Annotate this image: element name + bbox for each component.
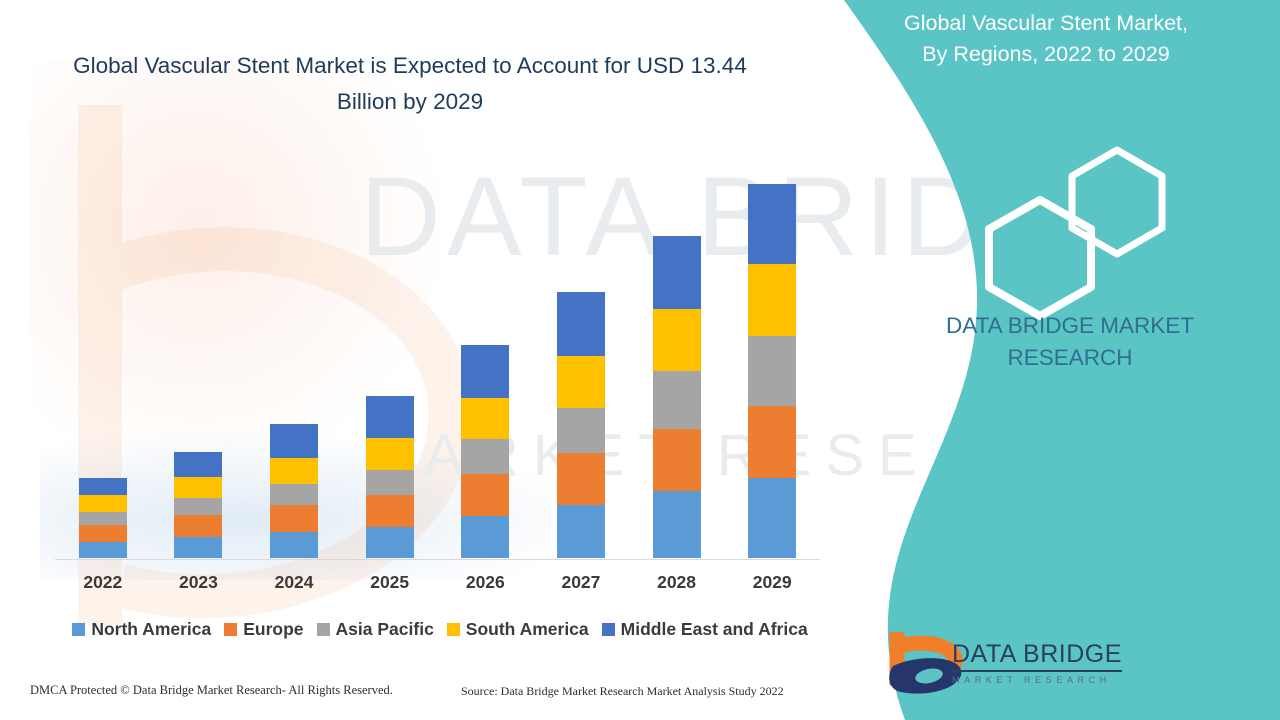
bar-segment: [270, 532, 318, 558]
bar-segment: [461, 439, 509, 474]
company-logo-text: DATA BRIDGE MARKET RESEARCH: [952, 640, 1152, 685]
legend-swatch-icon: [602, 623, 615, 636]
bar-segment: [653, 309, 701, 371]
infographic-canvas: DATA BRIDGE MARKET RESEARCH Global Vascu…: [0, 0, 1280, 720]
logo-name-primary: DATA BRIDGE: [952, 640, 1122, 672]
bar-segment: [653, 429, 701, 491]
panel-title-line1: Global Vascular Stent Market,: [846, 8, 1246, 39]
x-axis-label-2024: 2024: [249, 572, 339, 593]
bar-segment: [366, 527, 414, 558]
bar-2028: [653, 236, 701, 558]
bar-segment: [270, 458, 318, 484]
bar-segment: [270, 484, 318, 505]
logo-name-secondary: MARKET RESEARCH: [952, 675, 1152, 685]
bar-segment: [748, 406, 796, 478]
chart-x-axis-labels: 20222023202420252026202720282029: [55, 572, 820, 600]
bar-segment: [366, 470, 414, 495]
bar-segment: [79, 542, 127, 558]
bar-segment: [557, 453, 605, 505]
bar-segment: [461, 474, 509, 516]
bar-segment: [557, 292, 605, 356]
bar-2022: [79, 478, 127, 558]
panel-title-line2: By Regions, 2022 to 2029: [846, 39, 1246, 70]
bar-segment: [653, 491, 701, 558]
bar-segment: [270, 424, 318, 458]
x-axis-label-2028: 2028: [632, 572, 722, 593]
x-axis-label-2023: 2023: [153, 572, 243, 593]
page-title: Global Vascular Stent Market is Expected…: [60, 48, 760, 120]
bar-segment: [174, 452, 222, 477]
brand-panel: 2022 2029 DATA BRIDGE MARKET RESEARCH: [810, 0, 1280, 720]
bar-segment: [748, 184, 796, 264]
bar-segment: [557, 505, 605, 558]
legend-swatch-icon: [447, 623, 460, 636]
bar-segment: [461, 345, 509, 398]
bar-segment: [270, 505, 318, 532]
bar-2023: [174, 452, 222, 558]
copyright-notice: DMCA Protected © Data Bridge Market Rese…: [30, 683, 393, 698]
x-axis-label-2026: 2026: [440, 572, 530, 593]
bar-segment: [748, 336, 796, 406]
legend-label: Asia Pacific: [336, 619, 434, 640]
legend-label: Middle East and Africa: [621, 619, 808, 640]
bar-segment: [366, 438, 414, 470]
legend-item[interactable]: Asia Pacific: [317, 619, 434, 640]
bar-segment: [557, 408, 605, 453]
bar-segment: [79, 478, 127, 495]
brand-name-block: DATA BRIDGE MARKET RESEARCH: [905, 310, 1235, 374]
bar-segment: [174, 515, 222, 537]
bar-segment: [461, 398, 509, 439]
x-axis-label-2027: 2027: [536, 572, 626, 593]
x-axis-label-2029: 2029: [727, 572, 817, 593]
legend-swatch-icon: [317, 623, 330, 636]
bar-segment: [461, 516, 509, 558]
legend-swatch-icon: [72, 623, 85, 636]
bar-2026: [461, 345, 509, 558]
bar-segment: [557, 356, 605, 408]
brand-name-line1: DATA BRIDGE MARKET: [905, 310, 1235, 342]
legend-label: Europe: [243, 619, 303, 640]
x-axis-label-2022: 2022: [58, 572, 148, 593]
bar-segment: [174, 477, 222, 498]
bar-segment: [79, 495, 127, 512]
bar-segment: [366, 495, 414, 527]
bar-segment: [366, 396, 414, 438]
bar-segment: [174, 498, 222, 515]
chart-plot-area: [55, 150, 820, 559]
bar-2029: [748, 184, 796, 558]
legend-item[interactable]: North America: [72, 619, 211, 640]
bar-segment: [748, 264, 796, 336]
chart-legend: North AmericaEuropeAsia PacificSouth Ame…: [55, 616, 825, 642]
x-axis-label-2025: 2025: [345, 572, 435, 593]
stacked-bar-chart: [55, 150, 820, 560]
legend-item[interactable]: Middle East and Africa: [602, 619, 808, 640]
bar-segment: [653, 371, 701, 429]
chart-baseline-axis: [55, 559, 820, 560]
bar-segment: [79, 525, 127, 542]
bar-segment: [653, 236, 701, 309]
bar-segment: [174, 537, 222, 558]
bar-segment: [748, 478, 796, 558]
source-notice: Source: Data Bridge Market Research Mark…: [461, 684, 784, 699]
legend-label: North America: [91, 619, 211, 640]
bar-2027: [557, 292, 605, 558]
bar-2025: [366, 396, 414, 558]
panel-title: Global Vascular Stent Market, By Regions…: [846, 8, 1246, 70]
bar-segment: [79, 512, 127, 525]
legend-label: South America: [466, 619, 589, 640]
brand-name-line2: RESEARCH: [905, 342, 1235, 374]
legend-item[interactable]: South America: [447, 619, 589, 640]
legend-item[interactable]: Europe: [224, 619, 303, 640]
bar-2024: [270, 424, 318, 558]
legend-swatch-icon: [224, 623, 237, 636]
